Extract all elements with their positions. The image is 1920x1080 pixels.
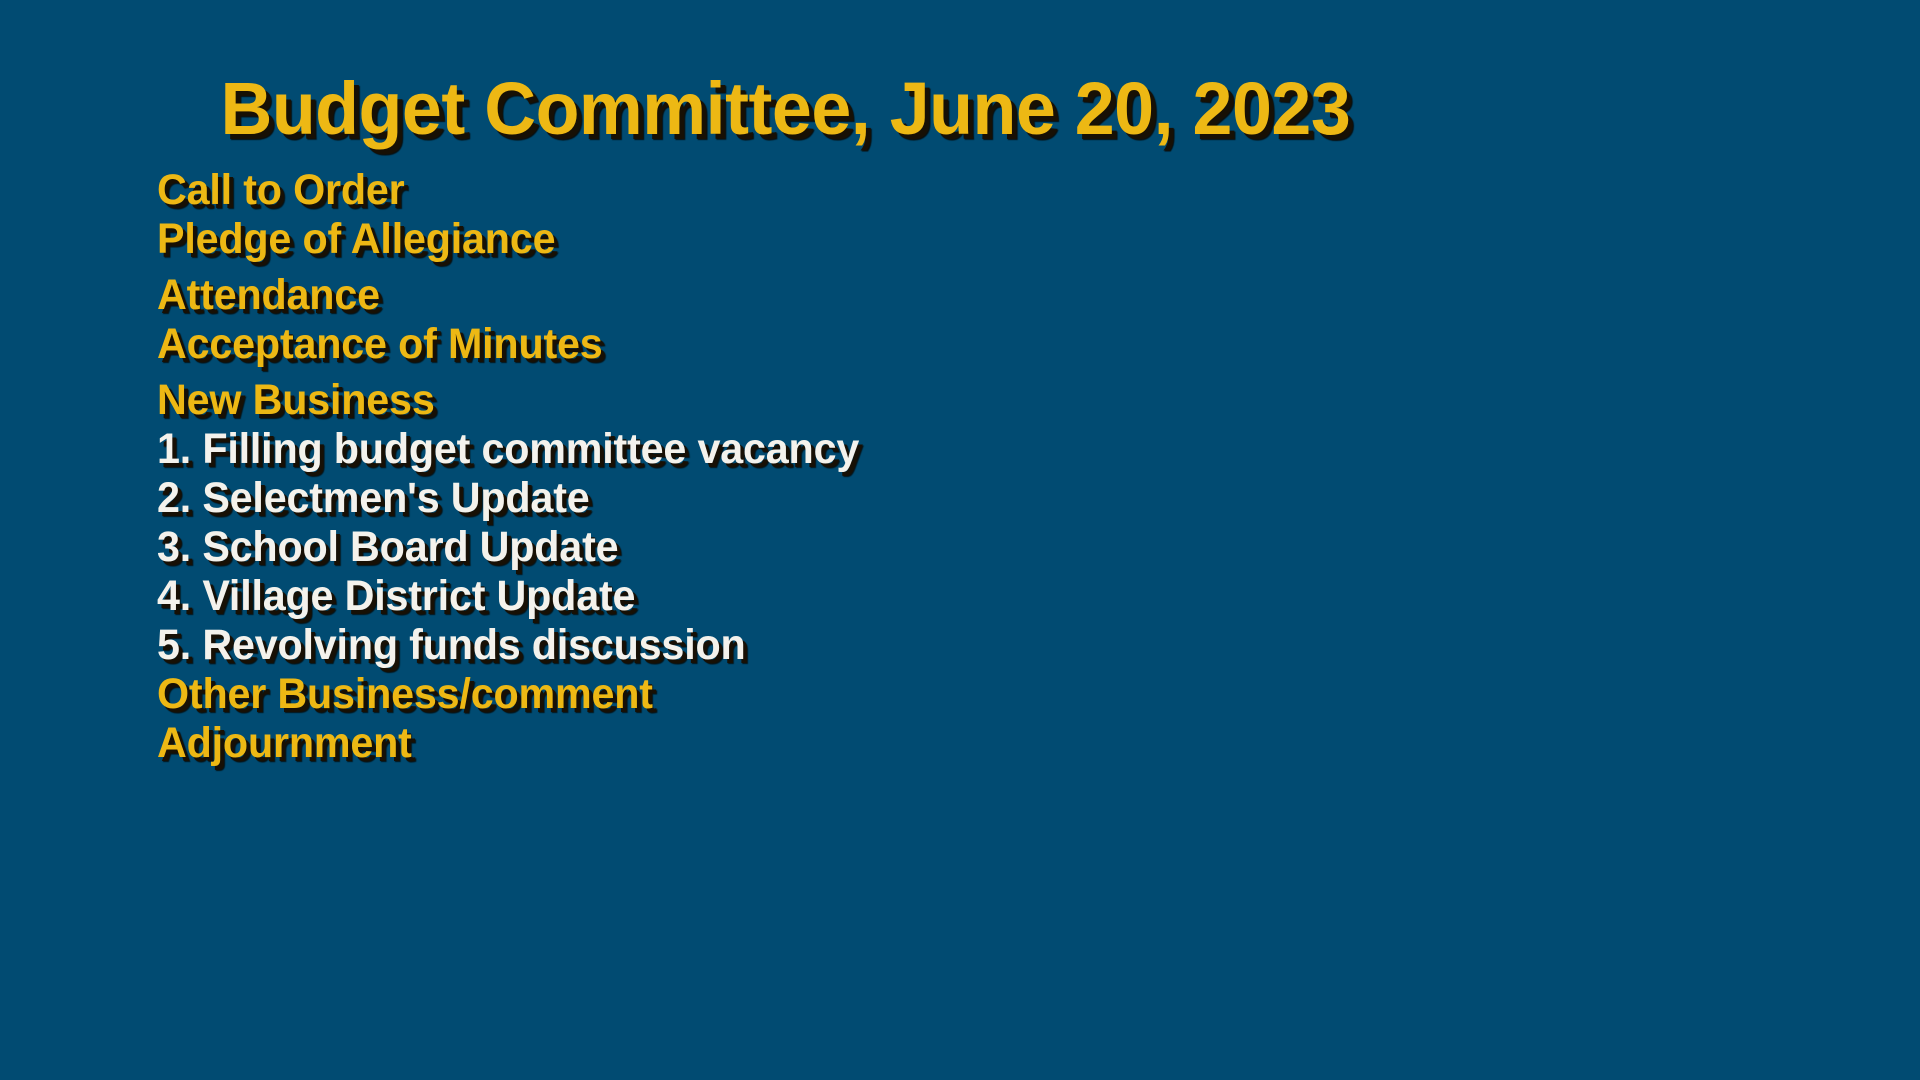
title-row: Budget Committee, June 20, 2023 xyxy=(0,72,1570,146)
agenda-item-other-business-comment: Other Business/comment xyxy=(157,670,1405,719)
agenda-item-attendance: Attendance xyxy=(157,271,1405,320)
agenda-item-pledge-of-allegiance: Pledge of Allegiance xyxy=(157,215,1405,264)
agenda-item-new-business: New Business xyxy=(157,376,1405,425)
new-business-item-1: 1. Filling budget committee vacancy xyxy=(157,425,1405,474)
agenda-item-adjournment: Adjournment xyxy=(157,719,1405,768)
agenda-item-acceptance-of-minutes: Acceptance of Minutes xyxy=(157,320,1405,369)
new-business-item-2: 2. Selectmen's Update xyxy=(157,474,1405,523)
page-title: Budget Committee, June 20, 2023 xyxy=(220,72,1350,146)
new-business-item-5: 5. Revolving funds discussion xyxy=(157,621,1405,670)
agenda-slide: Budget Committee, June 20, 2023 Call to … xyxy=(0,0,1920,1080)
new-business-item-4: 4. Village District Update xyxy=(157,572,1405,621)
agenda-list: Call to Order Pledge of Allegiance Atten… xyxy=(157,166,1457,768)
agenda-item-call-to-order: Call to Order xyxy=(157,166,1405,215)
new-business-item-3: 3. School Board Update xyxy=(157,523,1405,572)
